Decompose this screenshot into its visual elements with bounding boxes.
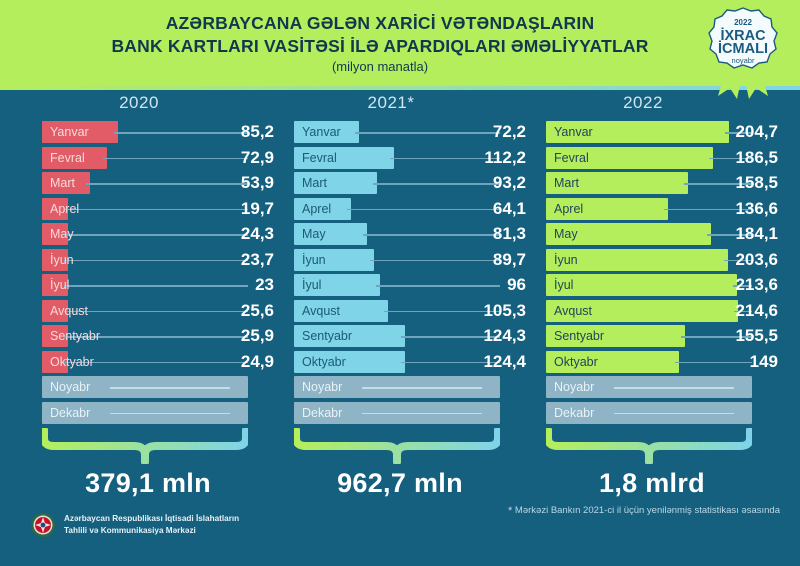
bar-value-label: 149 (750, 351, 778, 373)
bar-month-label: İyun (554, 249, 578, 271)
leader-line (103, 158, 248, 160)
bar-track: İyul (546, 274, 752, 296)
leader-line (86, 183, 248, 185)
bar-track: Yanvar (294, 121, 500, 143)
bar-row: Aprel19,7 (24, 197, 272, 223)
bar-month-label: Sentyabr (302, 325, 352, 347)
bar-month-label: Oktyabr (50, 351, 94, 373)
bar-month-label: Sentyabr (554, 325, 604, 347)
bar-month-label: Avqust (554, 300, 592, 322)
leader-line (370, 260, 500, 262)
bar-value-label: 23,7 (241, 249, 274, 271)
bar-value-label: 158,5 (735, 172, 778, 194)
bar-month-label: Aprel (302, 198, 331, 220)
bar-month-label: Dekabr (302, 402, 342, 424)
bar-value-label: 124,4 (483, 351, 526, 373)
bar-track: Noyabr (546, 376, 752, 398)
bar-track: Avqust (42, 300, 248, 322)
bar-track: Mart (294, 172, 500, 194)
bar-row: May24,3 (24, 222, 272, 248)
bar-row: Sentyabr155,5 (528, 324, 776, 350)
bar-month-label: Aprel (554, 198, 583, 220)
leader-line (362, 413, 482, 415)
bar-track: Noyabr (42, 376, 248, 398)
bar-row: Fevral72,9 (24, 146, 272, 172)
bar-month-label: Noyabr (554, 376, 594, 398)
bar-value-label: 213,6 (735, 274, 778, 296)
bar-track: Sentyabr (294, 325, 500, 347)
bar-month-label: Noyabr (302, 376, 342, 398)
bar-track: Noyabr (294, 376, 500, 398)
bar-month-label: Dekabr (554, 402, 594, 424)
bar-row: Oktyabr24,9 (24, 350, 272, 376)
bar-rows: Yanvar85,2Fevral72,9Mart53,9Aprel19,7May… (24, 120, 272, 426)
bar-row: Avqust105,3 (276, 299, 524, 325)
column-year-label: 2021* (288, 90, 494, 116)
leader-line (373, 183, 500, 185)
leader-line (355, 132, 500, 134)
brace-2020 (42, 428, 248, 464)
leader-line (110, 413, 230, 415)
leader-line (675, 362, 752, 364)
chart-column-2021: 2021* Yanvar72,2Fevral112,2Mart93,2Aprel… (276, 90, 524, 426)
header-title-group: AZƏRBAYCANA GƏLƏN XARİCİ VƏTƏNDAŞLARIN B… (111, 12, 688, 73)
bar-row: Mart53,9 (24, 171, 272, 197)
bar-month-label: Fevral (302, 147, 337, 169)
bar-value-label: 112,2 (484, 147, 526, 169)
bar-row: İyul213,6 (528, 273, 776, 299)
bar-month-label: İyul (554, 274, 573, 296)
bar-value-label: 72,2 (493, 121, 526, 143)
bar-month-label: Avqust (302, 300, 340, 322)
bar-row: Mart158,5 (528, 171, 776, 197)
bar-value-label: 155,5 (735, 325, 778, 347)
leader-line (614, 413, 734, 415)
bar-value-label: 214,6 (735, 300, 778, 322)
bar-row: Fevral112,2 (276, 146, 524, 172)
bar-month-label: May (50, 223, 74, 245)
footer-attribution: Azərbaycan Respublikası İqtisadi İslahat… (30, 512, 239, 538)
bar-track: Fevral (546, 147, 752, 169)
bar-value-label: 81,3 (493, 223, 526, 245)
total-2021: 962,7 mln (276, 468, 524, 499)
leader-line (347, 209, 500, 211)
bar-row: Yanvar72,2 (276, 120, 524, 146)
bar-month-label: Aprel (50, 198, 79, 220)
bar-row: Aprel64,1 (276, 197, 524, 223)
bar-row: İyun23,7 (24, 248, 272, 274)
bar-track: İyun (546, 249, 752, 271)
bar-track: Sentyabr (546, 325, 752, 347)
bar-track: Dekabr (546, 402, 752, 424)
bar-month-label: May (554, 223, 578, 245)
bar-value-label: 24,3 (241, 223, 274, 245)
page-title-line2: BANK KARTLARI VASİTƏSİ İLƏ APARDIQLARI Ə… (111, 35, 648, 57)
bar-row: İyul23 (24, 273, 272, 299)
bar-track: Oktyabr (294, 351, 500, 373)
bar-value-label: 24,9 (241, 351, 274, 373)
bar-track: İyun (42, 249, 248, 271)
bar-month-label: Mart (554, 172, 579, 194)
bar-month-label: Oktyabr (554, 351, 598, 373)
bar-value-label: 25,6 (241, 300, 274, 322)
leader-line (114, 132, 248, 134)
bar-row: Oktyabr149 (528, 350, 776, 376)
footer-line1: Azərbaycan Respublikası İqtisadi İslahat… (64, 514, 239, 523)
bar-row: İyul96 (276, 273, 524, 299)
leader-line (64, 260, 248, 262)
bar-track: Yanvar (42, 121, 248, 143)
bar-rows: Yanvar72,2Fevral112,2Mart93,2Aprel64,1Ma… (276, 120, 524, 426)
bar-track: İyul (42, 274, 248, 296)
bar-track: May (546, 223, 752, 245)
badge-year: 2022 (734, 18, 752, 27)
column-year-label: 2022 (540, 90, 746, 116)
bar-month-label: Yanvar (50, 121, 89, 143)
leader-line (110, 387, 230, 389)
bar-track: Oktyabr (546, 351, 752, 373)
leader-line (64, 234, 248, 236)
bar-row: Aprel136,6 (528, 197, 776, 223)
bar-value-label: 23 (255, 274, 274, 296)
bar-value-label: 136,6 (735, 198, 778, 220)
bar-value-label: 19,7 (241, 198, 274, 220)
bar-month-label: İyun (302, 249, 326, 271)
bar-row: İyun89,7 (276, 248, 524, 274)
bar-value-label: 53,9 (241, 172, 274, 194)
bar-value-label: 124,3 (483, 325, 526, 347)
brace-2021 (294, 428, 500, 464)
bar-row: Avqust25,6 (24, 299, 272, 325)
ixrac-icmali-badge: 2022 İXRAC İCMALI noyabr (704, 4, 782, 102)
bar-month-label: Mart (302, 172, 327, 194)
total-2022: 1,8 mlrd (528, 468, 776, 499)
bar-month-label: Avqust (50, 300, 88, 322)
bar-track: İyul (294, 274, 500, 296)
bar-row: Avqust214,6 (528, 299, 776, 325)
bar-month-label: Fevral (50, 147, 85, 169)
bar-row: May184,1 (528, 222, 776, 248)
column-year-label: 2020 (36, 90, 242, 116)
bar-row: Fevral186,5 (528, 146, 776, 172)
bar-value-label: 72,9 (241, 147, 274, 169)
footnote-star: * (508, 505, 512, 517)
chart-column-2020: 2020 Yanvar85,2Fevral72,9Mart53,9Aprel19… (24, 90, 272, 426)
bar-month-label: Dekabr (50, 402, 90, 424)
bar-track: Avqust (294, 300, 500, 322)
bar-month-label: Yanvar (554, 121, 593, 143)
bar-track: Dekabr (294, 402, 500, 424)
bar-track: Mart (546, 172, 752, 194)
azerbaijan-emblem-icon (30, 512, 56, 538)
badge-line2: İCMALI (718, 40, 768, 57)
footer-text: Azərbaycan Respublikası İqtisadi İslahat… (64, 513, 239, 537)
page-subtitle: (milyon manatla) (111, 59, 648, 74)
bar-value-label: 203,6 (735, 249, 778, 271)
bar-track: Oktyabr (42, 351, 248, 373)
brace-2022 (546, 428, 752, 464)
bar-track: Avqust (546, 300, 752, 322)
bar-row: Noyabr (24, 375, 272, 401)
bar-value-label: 64,1 (493, 198, 526, 220)
footer-line2: Tahlili və Kommunikasiya Mərkəzi (64, 526, 196, 535)
bar-row: Dekabr (24, 401, 272, 427)
bar-value-label: 186,5 (735, 147, 778, 169)
bar-value-label: 105,3 (483, 300, 526, 322)
bar-month-label: İyul (50, 274, 69, 296)
bar-row: Noyabr (276, 375, 524, 401)
bar-row: Sentyabr124,3 (276, 324, 524, 350)
bar-row: May81,3 (276, 222, 524, 248)
leader-line (64, 285, 248, 287)
badge-month: noyabr (732, 56, 755, 65)
bar-value-label: 89,7 (493, 249, 526, 271)
bar-month-label: Sentyabr (50, 325, 100, 347)
bar-row: Dekabr (276, 401, 524, 427)
bar-month-label: İyul (302, 274, 321, 296)
bar-month-label: Oktyabr (302, 351, 346, 373)
bar-row: Sentyabr25,9 (24, 324, 272, 350)
leader-line (64, 311, 248, 313)
bar-rows: Yanvar204,7Fevral186,5Mart158,5Aprel136,… (528, 120, 776, 426)
bar-month-label: Noyabr (50, 376, 90, 398)
bar-value-label: 25,9 (241, 325, 274, 347)
header-banner: AZƏRBAYCANA GƏLƏN XARİCİ VƏTƏNDAŞLARIN B… (0, 0, 800, 86)
leader-line (614, 387, 734, 389)
bar-value-label: 96 (507, 274, 526, 296)
bar-value-label: 93,2 (493, 172, 526, 194)
bar-month-label: Yanvar (302, 121, 341, 143)
bar-track: Aprel (42, 198, 248, 220)
bar-month-label: İyun (50, 249, 74, 271)
bar-row: Mart93,2 (276, 171, 524, 197)
bar-value-label: 184,1 (735, 223, 778, 245)
bar-row: Oktyabr124,4 (276, 350, 524, 376)
bar-month-label: May (302, 223, 326, 245)
footnote-text: Mərkəzi Bankın 2021-ci il üçün yenilənmi… (515, 505, 780, 516)
footnote: * Mərkəzi Bankın 2021-ci il üçün yenilən… (508, 505, 780, 517)
bar-row: Noyabr (528, 375, 776, 401)
bar-row: Yanvar85,2 (24, 120, 272, 146)
bar-track: Aprel (294, 198, 500, 220)
leader-line (64, 209, 248, 211)
bar-row: İyun203,6 (528, 248, 776, 274)
bar-month-label: Fevral (554, 147, 589, 169)
bar-track: May (294, 223, 500, 245)
bar-track: Sentyabr (42, 325, 248, 347)
bar-value-label: 204,7 (735, 121, 778, 143)
bar-track: Aprel (546, 198, 752, 220)
bar-track: Fevral (42, 147, 248, 169)
chart-column-2022: 2022 Yanvar204,7Fevral186,5Mart158,5Apre… (528, 90, 776, 426)
bar-track: May (42, 223, 248, 245)
leader-line (363, 234, 500, 236)
leader-line (362, 387, 482, 389)
bar-row: Dekabr (528, 401, 776, 427)
total-2020: 379,1 mln (24, 468, 272, 499)
leader-line (376, 285, 500, 287)
bar-month-label: Mart (50, 172, 75, 194)
bar-value-label: 85,2 (241, 121, 274, 143)
bar-track: Dekabr (42, 402, 248, 424)
bar (546, 274, 737, 296)
page-title-line1: AZƏRBAYCANA GƏLƏN XARİCİ VƏTƏNDAŞLARIN (111, 12, 648, 34)
bar-track: Mart (42, 172, 248, 194)
bar-track: İyun (294, 249, 500, 271)
bar-track: Yanvar (546, 121, 752, 143)
bar-row: Yanvar204,7 (528, 120, 776, 146)
bar-track: Fevral (294, 147, 500, 169)
